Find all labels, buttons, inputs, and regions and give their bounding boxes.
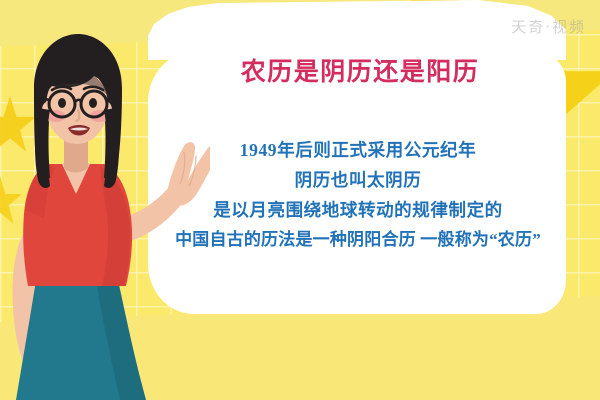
bubble-line: 是以月亮围绕地球转动的规律制定的	[152, 195, 564, 225]
bubble-body: 1949年后则正式采用公元纪年 阴历也叫太阴历 是以月亮围绕地球转动的规律制定的…	[152, 135, 564, 255]
speech-bubble-top-extension	[148, 0, 566, 60]
bubble-line: 中国自古的历法是一种阴阳合历 一般称为“农历”	[152, 225, 564, 255]
bubble-line: 阴历也叫太阴历	[152, 165, 564, 195]
character-eye-left	[58, 98, 66, 108]
bubble-line: 1949年后则正式采用公元纪年	[152, 135, 564, 165]
bubble-title: 农历是阴历还是阳历	[160, 58, 560, 88]
slide-canvas: 农历是阴历还是阳历 1949年后则正式采用公元纪年 阴历也叫太阴历 是以月亮围绕…	[0, 0, 600, 400]
watermark-label: 天奇·视频	[511, 16, 586, 37]
character-eye-right	[89, 98, 97, 108]
character-neck	[64, 140, 88, 173]
